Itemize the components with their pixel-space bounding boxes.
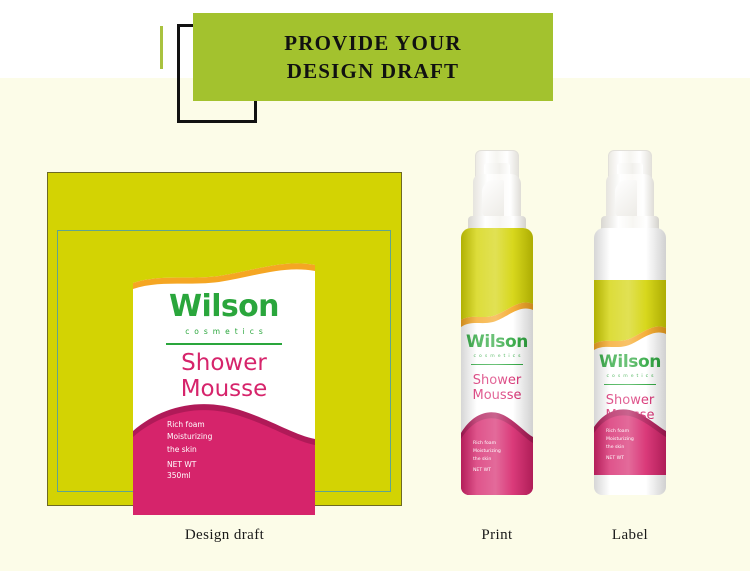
bottle-top-wave [594,280,666,350]
product-name-line-1: Shower [133,351,315,377]
bottle-description-line-2: Moisturizing [606,436,634,444]
bottle-label: Wilson cosmetics Shower Mousse Rich foam… [580,150,680,495]
description-line-1: Rich foam [167,419,212,431]
product-name: Shower Mousse [133,351,315,403]
label-bottom-wave [133,397,315,515]
caption-label: Label [580,527,680,544]
bottle-brand-subtitle: cosmetics [461,354,533,359]
bottle-body: Wilson cosmetics Shower Mousse Rich foam… [594,228,666,495]
bottle-brand-name: Wilson [461,332,533,352]
bottle-description-line-3: the skin [606,444,634,452]
bottle-wrapped-label-artwork: Wilson cosmetics Shower Mousse Rich foam… [594,280,666,475]
description-line-3: the skin [167,444,212,456]
bottle-brand-divider [471,364,523,365]
bottle-body: Wilson cosmetics Shower Mousse Rich foam… [461,228,533,495]
brand-subtitle: cosmetics [133,327,315,336]
brand-divider [166,343,282,345]
product-description: Rich foam Moisturizing the skin [167,419,212,456]
green-accent-bar [160,26,163,69]
bottle-net-weight: NET WT [606,456,624,461]
bottle-description-line-1: Rich foam [606,428,634,436]
bottle-print-artwork: Wilson cosmetics Shower Mousse Rich foam… [461,228,533,495]
bottle-product-name: Shower Mousse [461,374,533,403]
caption-print: Print [447,527,547,544]
brand-name: Wilson [133,289,315,324]
net-weight-value: 350ml [167,471,196,482]
bottle-print: Wilson cosmetics Shower Mousse Rich foam… [447,150,547,495]
net-weight-label: NET WT [167,460,196,471]
bottle-description: Rich foam Moisturizing the skin [606,428,634,451]
promo-banner: PROVIDE YOUR DESIGN DRAFT Wilson cosmeti… [0,0,750,571]
nozzle-curve [615,180,637,220]
bottle-description-line-3: the skin [473,456,501,464]
page-title-line-1: PROVIDE YOUR [284,30,462,56]
bottle-product-line-2: Mousse [461,389,533,404]
bottle-net-weight: NET WT [473,468,491,473]
bottle-description-line-1: Rich foam [473,440,501,448]
flat-label-artwork: Wilson cosmetics Shower Mousse Rich foam… [133,255,315,515]
bottle-brand-subtitle: cosmetics [594,374,666,379]
bottle-product-line-1: Shower [461,374,533,389]
bottle-brand-divider [604,384,656,385]
bottle-description-line-2: Moisturizing [473,448,501,456]
description-line-2: Moisturizing [167,431,212,443]
nozzle-curve [482,180,504,220]
page-title: PROVIDE YOUR DESIGN DRAFT [193,13,553,101]
bottle-description: Rich foam Moisturizing the skin [473,440,501,463]
bottle-brand-name: Wilson [594,352,666,372]
caption-design-draft: Design draft [47,527,402,544]
page-title-line-2: DESIGN DRAFT [287,58,460,84]
bottle-top-wave [461,228,533,328]
net-weight: NET WT 350ml [167,460,196,482]
